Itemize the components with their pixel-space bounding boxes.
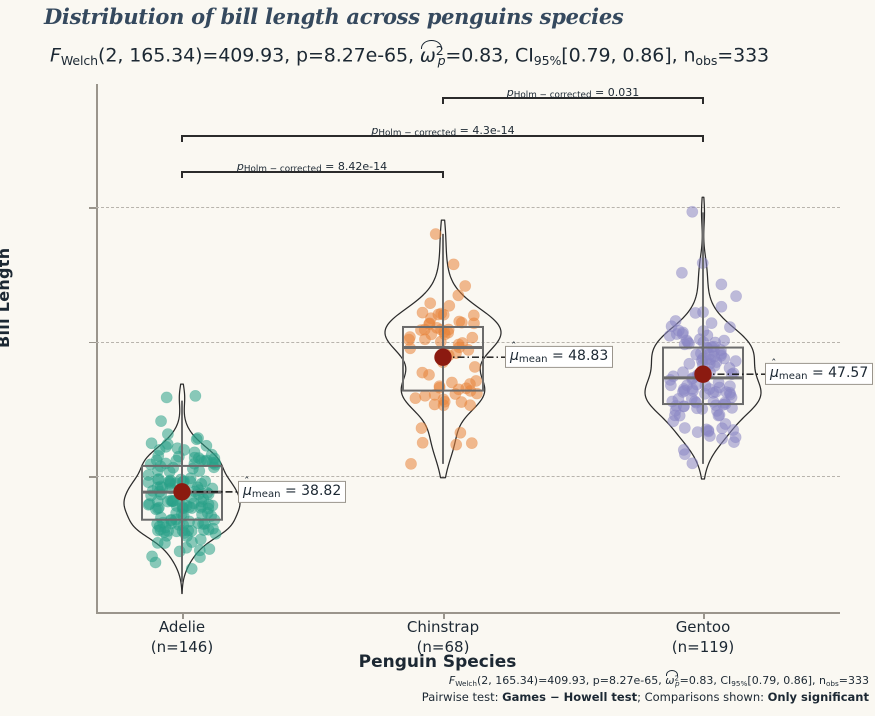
subtitle-ci-subscript: 95% bbox=[534, 53, 562, 68]
y-axis-label: Bill Length bbox=[0, 248, 13, 348]
group-count: (n=119) bbox=[603, 638, 803, 658]
gridline-40 bbox=[96, 476, 840, 477]
y-axis-spine bbox=[96, 84, 98, 613]
subtitle-n-value: =333 bbox=[717, 44, 769, 66]
footer-caption: FWelch(2, 165.34)=409.93, p=8.27e-65, ω2… bbox=[422, 672, 869, 707]
subtitle-ci-value: [0.79, 0.86], n bbox=[561, 44, 695, 66]
y-tick-mark-40 bbox=[89, 476, 96, 478]
data-points-adelie bbox=[143, 390, 221, 574]
boxplot-chinstrap bbox=[403, 234, 483, 464]
bracket-label-adelie-gentoo: pHolm − corrected = 4.3e-14 bbox=[371, 124, 514, 139]
boxplot-gentoo bbox=[663, 212, 743, 464]
violin-outline-chinstrap bbox=[385, 220, 501, 478]
group-name: Adelie bbox=[82, 618, 282, 638]
violin-outline-adelie bbox=[124, 384, 240, 593]
statistical-violin-plot: Distribution of bill length across pengu… bbox=[0, 0, 875, 716]
gridline-60 bbox=[96, 207, 840, 208]
x-tick-mark-chinstrap bbox=[443, 613, 445, 619]
x-tick-mark-gentoo bbox=[703, 613, 705, 619]
mean-marker-chinstrap bbox=[435, 349, 505, 365]
subtitle-f-args: (2, 165.34)=409.93, p=8.27e-65, bbox=[98, 44, 420, 66]
boxplot-adelie bbox=[142, 401, 222, 583]
violin-outline-gentoo bbox=[645, 197, 761, 479]
subtitle-f-subscript: Welch bbox=[61, 53, 98, 68]
group-name: Gentoo bbox=[603, 618, 803, 638]
y-tick-mark-50 bbox=[89, 342, 96, 344]
mean-marker-adelie bbox=[174, 484, 238, 500]
subtitle-f-symbol: F bbox=[50, 44, 61, 66]
page-title: Distribution of bill length across pengu… bbox=[44, 4, 623, 29]
mean-label-adelie: ˆμmean = 38.82 bbox=[238, 481, 346, 503]
y-tick-mark-60 bbox=[89, 207, 96, 209]
bracket-label-chinstrap-gentoo: pHolm − corrected = 0.031 bbox=[507, 86, 639, 101]
x-tick-mark-adelie bbox=[182, 613, 184, 619]
mean-marker-gentoo bbox=[695, 366, 765, 382]
footer-test-info: Pairwise test: Games − Howell test; Comp… bbox=[422, 689, 869, 707]
group-name: Chinstrap bbox=[343, 618, 543, 638]
x-tick-label-chinstrap: Chinstrap(n=68) bbox=[343, 618, 543, 657]
x-tick-label-adelie: Adelie(n=146) bbox=[82, 618, 282, 657]
mean-label-gentoo: ˆμmean = 47.57 bbox=[765, 363, 873, 385]
gridline-50 bbox=[96, 342, 840, 343]
data-points-gentoo bbox=[664, 206, 742, 469]
plot-subtitle: FWelch(2, 165.34)=409.93, p=8.27e-65, ω2… bbox=[50, 43, 769, 68]
subtitle-n-subscript: obs bbox=[695, 53, 717, 68]
group-count: (n=146) bbox=[82, 638, 282, 658]
x-tick-label-gentoo: Gentoo(n=119) bbox=[603, 618, 803, 657]
data-points-chinstrap bbox=[403, 228, 482, 469]
group-count: (n=68) bbox=[343, 638, 543, 658]
mean-label-chinstrap: ˆμmean = 48.83 bbox=[505, 346, 613, 368]
plot-canvas bbox=[0, 0, 875, 716]
x-axis-spine bbox=[96, 612, 840, 614]
bracket-label-adelie-chinstrap: pHolm − corrected = 8.42e-14 bbox=[237, 160, 387, 175]
subtitle-omega-squared: ω2p bbox=[420, 43, 446, 68]
subtitle-omega-value: =0.83, CI bbox=[445, 44, 533, 66]
footer-statistics: FWelch(2, 165.34)=409.93, p=8.27e-65, ω2… bbox=[422, 672, 869, 689]
